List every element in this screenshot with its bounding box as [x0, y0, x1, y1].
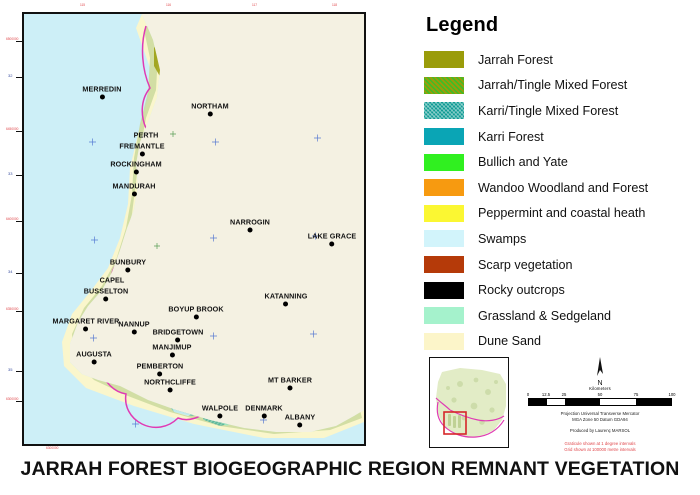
scale-tick: 0	[527, 392, 529, 397]
scale-and-credits-block: N Kilometers 0 12.5 25 50 75 100 Project…	[524, 356, 676, 453]
town-label: BUNBURY	[110, 258, 146, 267]
scale-tick: 75	[634, 392, 639, 397]
town-dot	[218, 414, 223, 419]
town-label: FREMANTLE	[119, 142, 164, 151]
town-dot	[208, 112, 213, 117]
north-arrow: N	[524, 356, 676, 386]
legend-item-wandoo-woodland-and-forest[interactable]: Wandoo Woodland and Forest	[424, 175, 690, 201]
grid-label-top: 117	[252, 4, 257, 7]
town-dot	[283, 302, 288, 307]
legend-heading: Legend	[426, 14, 690, 37]
town-name: LAKE GRACE	[308, 232, 357, 241]
legend-swatch-scarp-vegetation	[424, 256, 464, 273]
axis-tick	[16, 273, 23, 274]
town-dot	[248, 228, 253, 233]
legend-label: Bullich and Yate	[478, 155, 568, 169]
town-name: BRIDGETOWN	[153, 328, 204, 337]
scale-tick: 12.5	[542, 392, 550, 397]
town-name: MERREDIN	[82, 85, 121, 94]
town-label: KATANNING	[265, 292, 308, 301]
legend-swatch-jarrah-forest	[424, 51, 464, 68]
legend-swatch-wandoo-woodland-and-forest	[424, 179, 464, 196]
town-label: BOYUP BROOK	[168, 305, 223, 314]
town-name: BOYUP BROOK	[168, 305, 223, 314]
legend-label: Scarp vegetation	[478, 258, 573, 272]
axis-tick	[16, 311, 23, 312]
degree-label: 35	[8, 368, 12, 372]
produced-by: Produced by Laurenç MARSOL	[524, 428, 676, 434]
grid-note: Grid shown at 100000 metre intervals	[524, 447, 676, 453]
town-dot	[91, 360, 96, 365]
town-name: NORTHCLIFFE	[144, 378, 196, 387]
legend-item-scarp-vegetation[interactable]: Scarp vegetation	[424, 252, 690, 278]
legend-label: Karri/Tingle Mixed Forest	[478, 104, 618, 118]
legend-swatch-karri-tingle-mixed-forest	[424, 102, 464, 119]
legend-swatch-karri-forest	[424, 128, 464, 145]
legend-item-jarrah-forest[interactable]: Jarrah Forest	[424, 47, 690, 73]
scale-bar	[528, 398, 672, 406]
legend-item-rocky-outcrops[interactable]: Rocky outcrops	[424, 277, 690, 303]
town-label: NORTHAM	[191, 102, 228, 111]
svg-text:N: N	[597, 380, 602, 386]
town-name: MANJIMUP	[152, 343, 191, 352]
legend-label: Peppermint and coastal heath	[478, 206, 645, 220]
town-name: NORTHAM	[191, 102, 228, 111]
town-label: MANDURAH	[112, 182, 155, 191]
town-name: NANNUP	[118, 320, 149, 329]
legend-swatch-rocky-outcrops	[424, 282, 464, 299]
degree-label: 33	[8, 172, 12, 176]
town-name: CAPEL	[100, 276, 125, 285]
town-label: AUGUSTA	[76, 350, 112, 359]
town-dot	[194, 315, 199, 320]
town-label: NANNUP	[118, 320, 149, 329]
town-label: MANJIMUP	[152, 343, 191, 352]
inset-location-map[interactable]	[429, 357, 509, 448]
legend-label: Dune Sand	[478, 334, 541, 348]
town-label: PEMBERTON	[137, 362, 184, 371]
legend-swatch-swamps	[424, 230, 464, 247]
legend-item-jarrah-tingle-mixed-forest[interactable]: Jarrah/Tingle Mixed Forest	[424, 73, 690, 99]
legend-label: Wandoo Woodland and Forest	[478, 181, 648, 195]
legend-swatch-bullich-and-yate	[424, 154, 464, 171]
scale-units-label: Kilometers	[524, 386, 676, 391]
town-label: PERTH	[134, 131, 159, 140]
town-label: BRIDGETOWN	[153, 328, 204, 337]
town-name: ALBANY	[285, 413, 316, 422]
town-dot	[134, 170, 139, 175]
town-label: BUSSELTON	[84, 287, 129, 296]
scale-tick: 50	[598, 392, 603, 397]
legend-swatch-dune-sand	[424, 333, 464, 350]
town-name: AUGUSTA	[76, 350, 112, 359]
town-dot	[126, 268, 131, 273]
town-dot	[140, 152, 145, 157]
town-label: MT BARKER	[268, 376, 312, 385]
town-dot	[83, 327, 88, 332]
axis-tick	[16, 221, 23, 222]
axis-tick	[16, 77, 23, 78]
town-label: LAKE GRACE	[308, 232, 357, 241]
town-label: WALPOLE	[202, 404, 238, 413]
degree-label: 32	[8, 74, 12, 78]
projection-line-2: MGA Zone 50 Datum GDA94	[524, 417, 676, 423]
axis-tick	[16, 131, 23, 132]
grid-label-top: 116	[166, 4, 171, 7]
legend-item-grassland-and-sedgeland[interactable]: Grassland & Sedgeland	[424, 303, 690, 329]
scale-tick: 25	[562, 392, 567, 397]
legend-swatch-peppermint-and-coastal-heath	[424, 205, 464, 222]
axis-tick	[16, 41, 23, 42]
legend-item-peppermint-and-coastal-heath[interactable]: Peppermint and coastal heath	[424, 201, 690, 227]
town-dot	[131, 330, 136, 335]
town-name: DENMARK	[245, 404, 282, 413]
credits-block: Projection Universal Transverse Mercator…	[524, 411, 676, 453]
legend-label: Swamps	[478, 232, 526, 246]
degree-label: 34	[8, 270, 12, 274]
legend-label: Rocky outcrops	[478, 283, 565, 297]
town-label: NORTHCLIFFE	[144, 378, 196, 387]
town-name: WALPOLE	[202, 404, 238, 413]
grid-label-bottom: 6300000	[46, 447, 58, 450]
town-name: MANDURAH	[112, 182, 155, 191]
legend-label: Jarrah Forest	[478, 53, 553, 67]
legend-label: Jarrah/Tingle Mixed Forest	[478, 78, 627, 92]
town-label: ROCKINGHAM	[110, 160, 161, 169]
town-dot	[169, 353, 174, 358]
grid-label-top: 118	[332, 4, 337, 7]
scale-tick-labels: 0 12.5 25 50 75 100	[528, 392, 672, 398]
axis-tick	[16, 401, 23, 402]
axis-tick	[16, 175, 23, 176]
legend-item-karri-tingle-mixed-forest[interactable]: Karri/Tingle Mixed Forest	[424, 98, 690, 124]
town-label: DENMARK	[245, 404, 282, 413]
town-label: MARGARET RIVER	[53, 317, 120, 326]
axis-tick	[16, 371, 23, 372]
town-name: PERTH	[134, 131, 159, 140]
town-name: BUNBURY	[110, 258, 146, 267]
town-dot	[330, 242, 335, 247]
legend-item-swamps[interactable]: Swamps	[424, 226, 690, 252]
legend-swatch-jarrah-tingle-mixed-forest	[424, 77, 464, 94]
town-dot	[297, 423, 302, 428]
town-name: MARGARET RIVER	[53, 317, 120, 326]
town-dot	[262, 414, 267, 419]
page-title: JARRAH FOREST BIOGEOGRAPHIC REGION REMNA…	[0, 458, 700, 481]
legend-label: Grassland & Sedgeland	[478, 309, 611, 323]
legend-item-bullich-and-yate[interactable]: Bullich and Yate	[424, 149, 690, 175]
town-name: BUSSELTON	[84, 287, 129, 296]
town-name: KATANNING	[265, 292, 308, 301]
grid-label-top: 115	[80, 4, 85, 7]
town-dot	[99, 95, 104, 100]
town-label: NARROGIN	[230, 218, 270, 227]
town-name: NARROGIN	[230, 218, 270, 227]
legend-item-dune-sand[interactable]: Dune Sand	[424, 329, 690, 355]
legend-label: Karri Forest	[478, 130, 544, 144]
town-dot	[157, 372, 162, 377]
legend-swatch-grassland-and-sedgeland	[424, 307, 464, 324]
town-name: PEMBERTON	[137, 362, 184, 371]
town-name: MT BARKER	[268, 376, 312, 385]
town-label: ALBANY	[285, 413, 316, 422]
town-dot	[288, 386, 293, 391]
legend-item-karri-forest[interactable]: Karri Forest	[424, 124, 690, 150]
town-label: CAPEL	[100, 276, 125, 285]
town-name: FREMANTLE	[119, 142, 164, 151]
scale-tick: 100	[669, 392, 676, 397]
main-map[interactable]: MERREDIN NORTHAM PERTH FREMANTLE ROCKING…	[22, 12, 366, 446]
town-dot	[132, 192, 137, 197]
legend-panel: Legend Jarrah Forest Jarrah/Tingle Mixed…	[424, 14, 690, 354]
town-dot	[168, 388, 173, 393]
town-name: ROCKINGHAM	[110, 160, 161, 169]
town-dot	[104, 297, 109, 302]
town-label: MERREDIN	[82, 85, 121, 94]
